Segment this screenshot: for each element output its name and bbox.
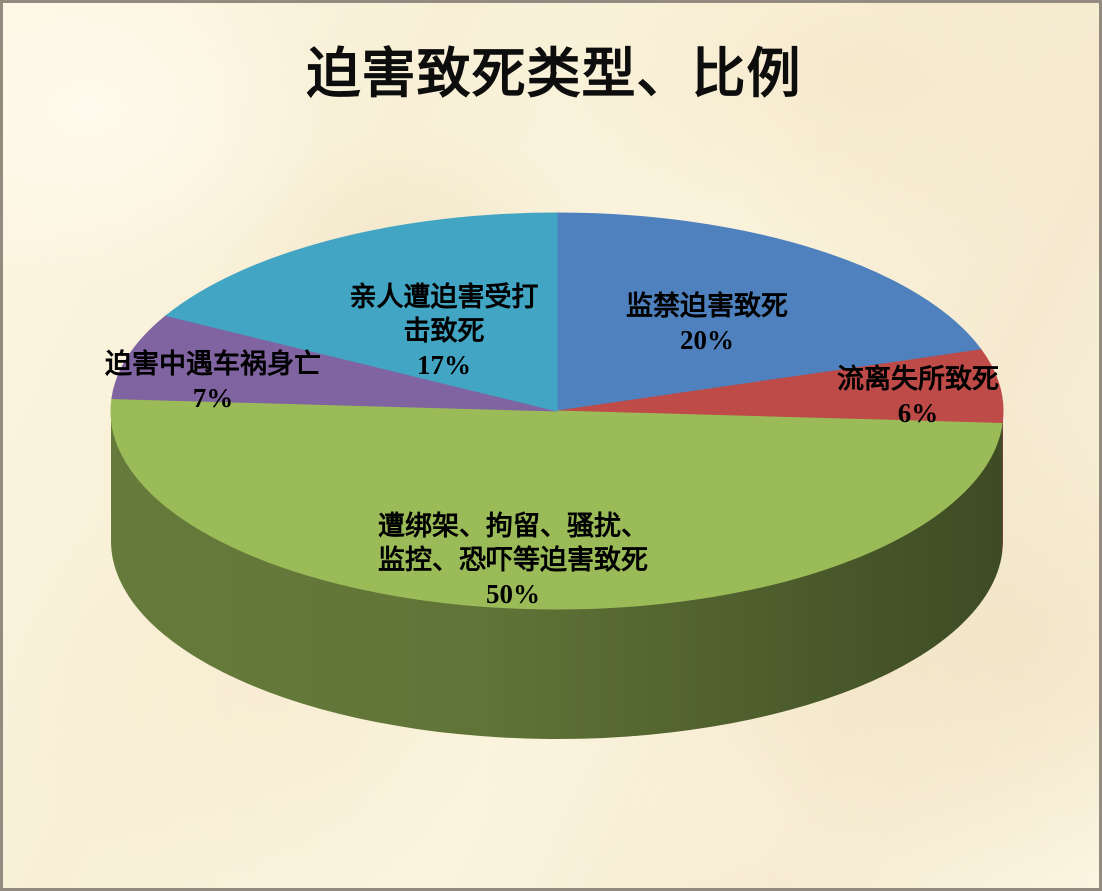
pie-top-faces [111,213,1003,609]
pie-slice-side [1002,411,1003,553]
slide-canvas: 迫害致死类型、比例 监禁迫害致死 20% 流离失所致死 6% 遭绑架、拘留、骚扰… [0,0,1102,891]
pie-chart-graphic [3,3,1102,891]
